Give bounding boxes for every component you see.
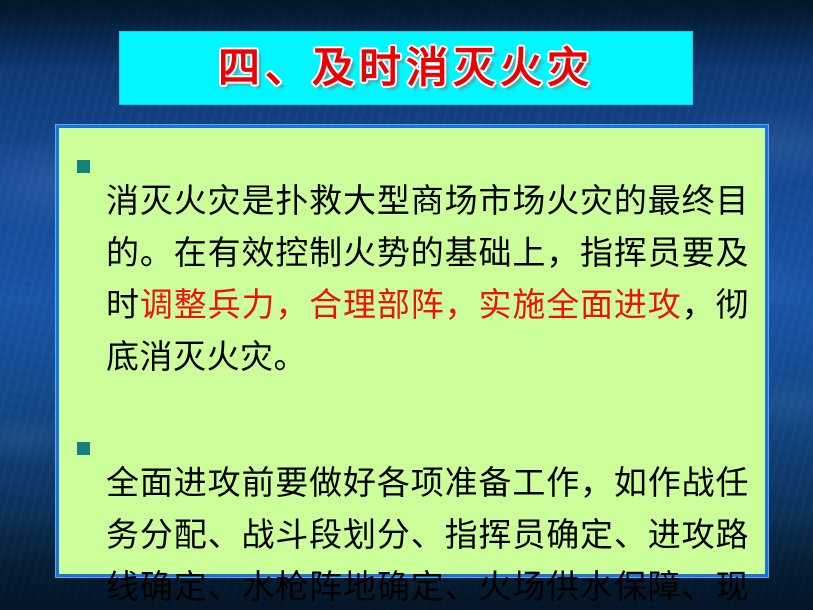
bullet-item-1-text: 消灭火灾是扑救大型商场市场火灾的最终目的。在有效控制火势的基础上，指挥员要及时调… [106, 175, 749, 383]
slide-title-banner: 四、及时消灭火灾 [120, 32, 692, 104]
slide-title: 四、及时消灭火灾 [218, 47, 594, 89]
bullet-item-2-text: 全面进攻前要做好各项准备工作，如作战任务分配、战斗段划分、指挥员确定、进攻路线确… [106, 457, 749, 610]
bullet-1-segment-2-highlight: 调整兵力，合理部阵，实施全面进攻 [140, 285, 682, 324]
square-bullet-icon [77, 442, 90, 455]
bullet-item-2: 全面进攻前要做好各项准备工作，如作战任务分配、战斗段划分、指挥员确定、进攻路线确… [69, 424, 749, 610]
slide-content-panel: 消灭火灾是扑救大型商场市场火灾的最终目的。在有效控制火势的基础上，指挥员要及时调… [56, 125, 768, 577]
presentation-slide: 四、及时消灭火灾 消灭火灾是扑救大型商场市场火灾的最终目的。在有效控制火势的基础… [0, 0, 813, 610]
bullet-item-1: 消灭火灾是扑救大型商场市场火灾的最终目的。在有效控制火势的基础上，指挥员要及时调… [69, 142, 749, 416]
bullet-2-segment-1: 全面进攻前要做好各项准备工作，如作战任务分配、战斗段划分、指挥员确定、进攻路线确… [106, 463, 749, 610]
square-bullet-icon [77, 160, 90, 173]
